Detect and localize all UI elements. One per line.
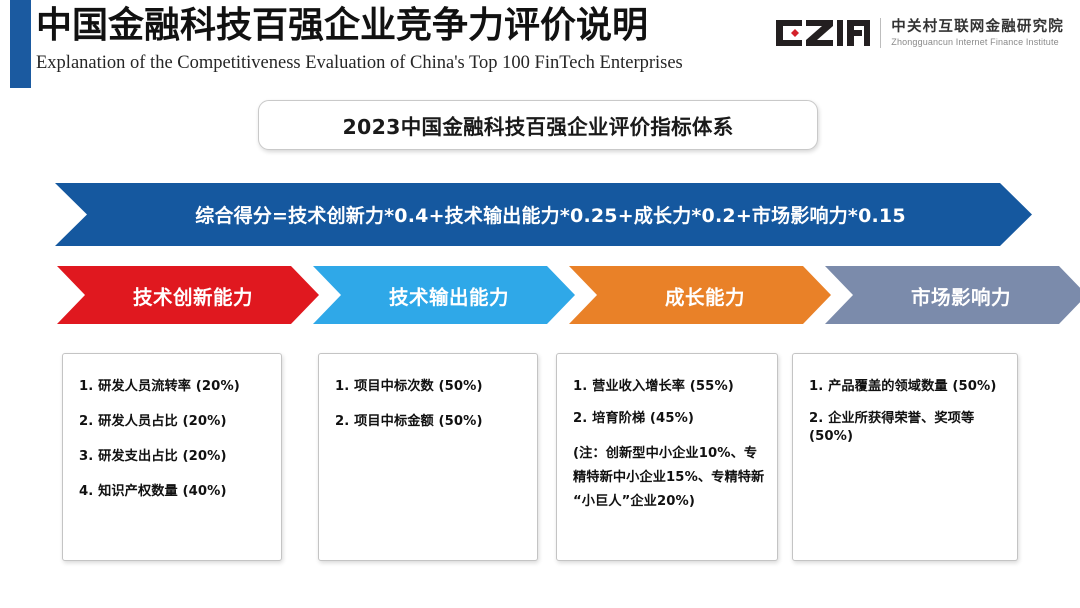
indicator-system-title: 2023中国金融科技百强企业评价指标体系 xyxy=(342,110,733,140)
card-item: 4. 知识产权数量 (40%) xyxy=(79,483,269,501)
card-tech-output: 1. 项目中标次数 (50%) 2. 项目中标金额 (50%) xyxy=(318,353,538,561)
card-item: 1. 项目中标次数 (50%) xyxy=(335,378,525,396)
card-item: 2. 项目中标金额 (50%) xyxy=(335,413,525,431)
dimension-chevron-row: 技术创新能力 技术输出能力 成长能力 市场影响力 xyxy=(0,266,1080,324)
card-tech-innovation: 1. 研发人员流转率 (20%) 2. 研发人员占比 (20%) 3. 研发支出… xyxy=(62,353,282,561)
chevron-label: 技术创新能力 xyxy=(123,281,253,310)
chevron-growth[interactable]: 成长能力 xyxy=(569,266,831,324)
card-item: 1. 研发人员流转率 (20%) xyxy=(79,378,269,396)
indicator-system-title-box: 2023中国金融科技百强企业评价指标体系 xyxy=(258,100,818,150)
card-item: 1. 营业收入增长率 (55%) xyxy=(573,378,765,396)
logo-name-cn: 中关村互联网金融研究院 xyxy=(891,18,1064,36)
card-item: 2. 企业所获得荣誉、奖项等 (50%) xyxy=(809,410,1005,446)
page-title-en: Explanation of the Competitiveness Evalu… xyxy=(36,50,683,76)
card-item: 1. 产品覆盖的领域数量 (50%) xyxy=(809,378,1005,396)
indicator-cards: 1. 研发人员流转率 (20%) 2. 研发人员占比 (20%) 3. 研发支出… xyxy=(0,353,1080,565)
chevron-tech-innovation[interactable]: 技术创新能力 xyxy=(57,266,319,324)
chevron-tech-output[interactable]: 技术输出能力 xyxy=(313,266,575,324)
score-formula-banner: 综合得分=技术创新力*0.4+技术输出能力*0.25+成长力*0.2+市场影响力… xyxy=(55,183,1032,246)
card-note: (注：创新型中小企业10%、专精特新中小企业15%、专精特新“小巨人”企业20%… xyxy=(573,442,765,514)
logo-wordmark: 中关村互联网金融研究院 Zhongguancun Internet Financ… xyxy=(891,18,1064,49)
card-item: 3. 研发支出占比 (20%) xyxy=(79,448,269,466)
chevron-label: 成长能力 xyxy=(655,281,745,310)
header-title-group: 中国金融科技百强企业竞争力评价说明 Explanation of the Com… xyxy=(36,3,683,76)
card-item: 2. 研发人员占比 (20%) xyxy=(79,413,269,431)
score-formula-text: 综合得分=技术创新力*0.4+技术输出能力*0.25+成长力*0.2+市场影响力… xyxy=(181,201,906,228)
logo-name-en: Zhongguancun Internet Finance Institute xyxy=(891,36,1064,49)
chevron-market-influence[interactable]: 市场影响力 xyxy=(825,266,1080,324)
card-item: 2. 培育阶梯 (45%) xyxy=(573,410,765,428)
czifi-logo-icon xyxy=(776,20,870,46)
header-accent-bar xyxy=(10,0,31,88)
page-header: 中国金融科技百强企业竞争力评价说明 Explanation of the Com… xyxy=(0,0,1080,90)
logo-divider xyxy=(880,18,881,48)
chevron-label: 市场影响力 xyxy=(901,281,1011,310)
page-title-cn: 中国金融科技百强企业竞争力评价说明 xyxy=(36,3,683,49)
card-growth: 1. 营业收入增长率 (55%) 2. 培育阶梯 (45%) (注：创新型中小企… xyxy=(556,353,778,561)
chevron-label: 技术输出能力 xyxy=(379,281,509,310)
institute-logo: 中关村互联网金融研究院 Zhongguancun Internet Financ… xyxy=(776,12,1064,54)
card-market-influence: 1. 产品覆盖的领域数量 (50%) 2. 企业所获得荣誉、奖项等 (50%) xyxy=(792,353,1018,561)
